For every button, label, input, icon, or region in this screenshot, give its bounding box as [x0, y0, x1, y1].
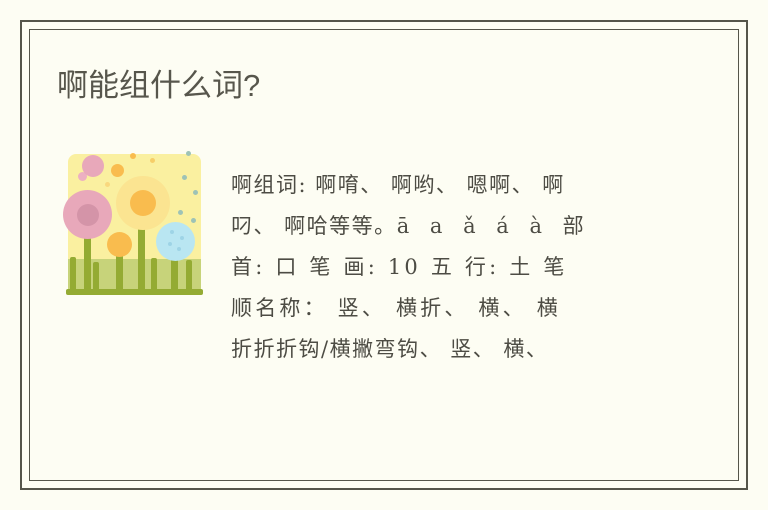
decor-dot — [111, 164, 124, 177]
grass-blade — [151, 258, 157, 293]
decor-dot — [130, 153, 136, 159]
decor-dot — [105, 182, 110, 187]
article-line-2: 叼、 啊哈等等。ā a ǎ á à 部 — [231, 206, 636, 247]
decor-dot — [191, 218, 196, 223]
blue-flower — [156, 222, 195, 261]
grass-blade — [70, 257, 76, 293]
yellow-flower-inner — [130, 190, 156, 216]
decor-dot — [178, 210, 183, 215]
blue-flower-speck — [170, 230, 174, 234]
article-line-2-text: 叼、 啊哈等等。 — [231, 214, 397, 238]
article-body: 啊组词: 啊唷、 啊哟、 嗯啊、 啊 叼、 啊哈等等。ā a ǎ á à 部 首… — [231, 165, 636, 370]
page-title: 啊能组什么词? — [57, 66, 260, 106]
decor-dot — [193, 190, 198, 195]
article-line-5: 折折折钩/横撇弯钩、 竖、 横、 — [231, 329, 636, 370]
pinyin-tones: ā a ǎ á à 部 — [397, 214, 591, 238]
article-line-4: 顺名称： 竖、 横折、 横、 横 — [231, 288, 636, 329]
article-line-1: 啊组词: 啊唷、 啊哟、 嗯啊、 啊 — [231, 165, 636, 206]
article-line-3: 首: 口 笔 画: 10 五 行: 土 笔 — [231, 247, 636, 288]
pink-flower-inner — [77, 204, 99, 226]
illustration-ground-line — [66, 289, 203, 295]
page-root: 啊能组什么词? — [0, 0, 768, 510]
blue-flower-speck — [168, 242, 172, 246]
decor-dot — [82, 155, 104, 177]
decor-dot — [150, 158, 155, 163]
decor-dot — [186, 151, 191, 156]
article-thumbnail-image — [60, 148, 209, 298]
blue-flower-speck — [177, 247, 181, 251]
orange-flower — [107, 232, 132, 257]
decor-dot — [182, 175, 187, 180]
blue-flower-speck — [180, 236, 184, 240]
page-content: 啊能组什么词? — [0, 0, 768, 510]
